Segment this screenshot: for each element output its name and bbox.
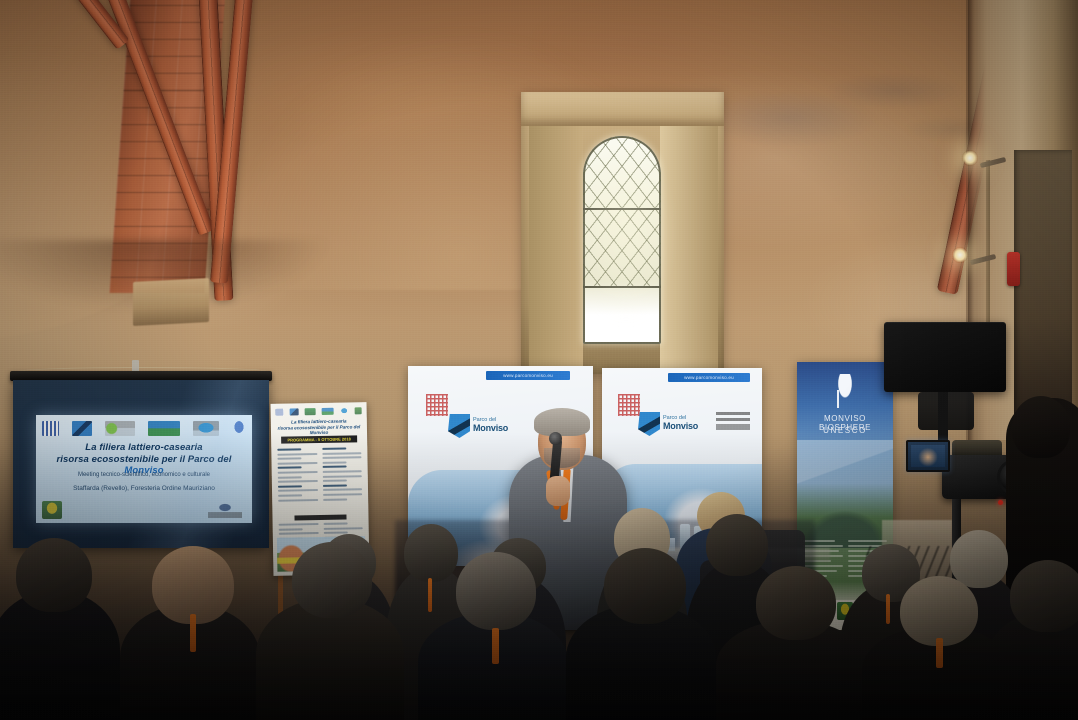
logo-partner-icon bbox=[148, 421, 180, 436]
slide-logo-row bbox=[42, 420, 246, 437]
screen-surface: La filiera lattiero-casearia risorsa eco… bbox=[13, 380, 269, 548]
slide-footer-logo-icon bbox=[208, 503, 242, 518]
camera-record-indicator bbox=[998, 500, 1003, 505]
black-flat-panel-monitor bbox=[884, 322, 1006, 392]
logo-regione-icon bbox=[42, 421, 59, 436]
leaded-diamond-pattern bbox=[583, 136, 661, 286]
window-reveal-right bbox=[660, 120, 718, 370]
poster-logo-row bbox=[276, 406, 362, 415]
slide-location: Staffarda (Revello), Foresteria Ordine M… bbox=[36, 485, 252, 492]
poster-logo-partner-icon bbox=[322, 407, 334, 414]
poster-programme-band: PROGRAMMA - 5 OTTOBRE 2018 bbox=[281, 435, 357, 443]
attendee-head bbox=[292, 542, 372, 618]
attendee-lanyard bbox=[190, 614, 196, 652]
logo-parco-monviso-icon bbox=[72, 421, 92, 436]
window-reveal-left bbox=[529, 120, 583, 370]
poster-programme-columns bbox=[277, 447, 362, 518]
speaker-beard bbox=[544, 448, 580, 468]
banner-brand-lockup: Parco del Monviso bbox=[638, 412, 698, 436]
slide-footer-crest-icon bbox=[42, 501, 62, 519]
poster-logo-regione-icon bbox=[276, 408, 284, 415]
banner-url-text: www.parcomonviso.eu bbox=[503, 373, 553, 378]
poster-column-right bbox=[322, 447, 363, 518]
attendee-head bbox=[604, 548, 686, 624]
logo-crest-icon bbox=[232, 421, 246, 436]
poster-section-divider bbox=[294, 515, 346, 521]
attendee-head bbox=[756, 566, 836, 640]
monviso-mountain-icon bbox=[448, 414, 470, 438]
logo-unesco-mab-icon bbox=[105, 421, 135, 436]
slide-subtitle: Meeting tecnico-scientifico, economico e… bbox=[36, 472, 252, 478]
poster-column-left bbox=[277, 448, 318, 519]
camera-flip-out-monitor bbox=[906, 440, 950, 472]
monviso-mountain-icon bbox=[638, 412, 660, 436]
window-transom-bar-upper bbox=[583, 208, 661, 210]
logo-onaf-icon bbox=[193, 421, 219, 436]
attendee-lanyard bbox=[936, 638, 943, 668]
attendee-lanyard bbox=[492, 628, 499, 664]
banner-brand-lockup: Parco del Monviso bbox=[448, 414, 508, 438]
poster-title: La filiera lattiero-casearia risorsa eco… bbox=[275, 418, 363, 437]
dark-doorway bbox=[1014, 150, 1072, 430]
speaker-hair bbox=[534, 408, 590, 436]
camera-operator-head bbox=[1012, 396, 1070, 458]
poster-logo-parco-icon bbox=[290, 408, 299, 415]
banner-brand-large: Monviso bbox=[473, 424, 508, 433]
slide-title-line-1: La filiera lattiero-casearia bbox=[36, 442, 252, 453]
banner-url-bar: www.parcomonviso.eu bbox=[486, 371, 570, 380]
banner-url-text: www.parcomonviso.eu bbox=[684, 375, 734, 380]
banner-partner-logos bbox=[716, 412, 750, 430]
slide-title-line-2-prefix: risorsa ecosostenibile per il Parco del bbox=[57, 454, 232, 465]
speaker-hand bbox=[546, 476, 570, 506]
spotlight-bulb bbox=[952, 247, 968, 263]
spotlight-bulb bbox=[962, 150, 978, 166]
banner-grid-logo bbox=[426, 394, 448, 416]
attendee-lanyard bbox=[428, 578, 432, 612]
tripod-projection-screen: La filiera lattiero-casearia risorsa eco… bbox=[10, 360, 272, 552]
poster-logo-onaf-icon bbox=[340, 407, 349, 414]
poster-programme-band-text: PROGRAMMA - 5 OTTOBRE 2018 bbox=[281, 435, 357, 443]
unesco-mab-icon bbox=[833, 374, 857, 408]
banner-brand-large: Monviso bbox=[663, 422, 698, 431]
attendee-head bbox=[152, 546, 234, 624]
banner-url-bar: www.parcomonviso.eu bbox=[668, 373, 750, 382]
window-transom-bar-lower bbox=[583, 286, 661, 288]
attendee-head bbox=[404, 524, 458, 582]
attendee-head bbox=[900, 576, 978, 646]
arched-window-glass bbox=[583, 136, 661, 344]
banner-grid-logo bbox=[618, 394, 640, 416]
fire-extinguisher-icon bbox=[1007, 252, 1020, 286]
banner-unesco-line-2: UNESCO bbox=[797, 426, 893, 435]
attendee-head bbox=[706, 514, 768, 576]
vault-corbel bbox=[133, 278, 209, 326]
microphone-capsule-icon bbox=[549, 432, 562, 445]
attendee-head bbox=[456, 552, 536, 630]
conference-room-photo: www.parcomonviso.eu Parco del Monviso ww… bbox=[0, 0, 1078, 720]
projected-slide: La filiera lattiero-casearia risorsa eco… bbox=[36, 415, 252, 523]
poster-logo-mab-icon bbox=[305, 408, 316, 415]
attendee-head bbox=[16, 538, 92, 612]
attendee-lanyard bbox=[886, 594, 890, 624]
attendee-head bbox=[950, 530, 1008, 588]
window-lintel bbox=[521, 92, 724, 126]
camera-monitor-image bbox=[911, 445, 945, 467]
attendee-head bbox=[1010, 560, 1078, 632]
poster-logo-crest-icon bbox=[355, 407, 362, 414]
